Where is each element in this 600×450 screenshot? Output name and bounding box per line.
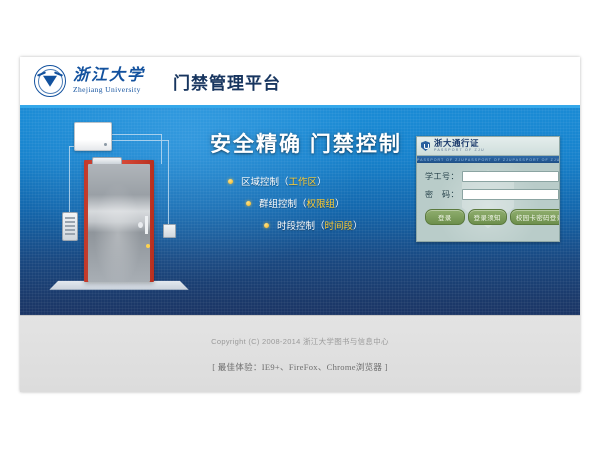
login-notice-button[interactable]: 登录须知	[468, 209, 507, 225]
feature-bullet-list: 区域控制（ 工作区 ） 群组控制（ 权限组 ） 时段控制（ 时间段 ）	[210, 174, 402, 232]
door-knob-icon	[138, 222, 143, 228]
login-title-cn: 浙大通行证	[434, 139, 485, 148]
wire-icon	[110, 134, 162, 136]
feature-bullet-group-control: 群组控制（ 权限组 ）	[246, 196, 402, 210]
wire-icon	[69, 146, 71, 212]
door-panel	[88, 164, 150, 282]
bullet-text: 群组控制（	[259, 196, 307, 210]
floor-plane	[49, 281, 188, 290]
bullet-text: 时段控制（	[277, 218, 325, 232]
login-title-en: PASSPORT OF ZJU	[434, 149, 485, 153]
banner-slogan: 安全精确 门禁控制	[210, 128, 402, 158]
campus-card-login-button[interactable]: 校园卡密码登录	[510, 209, 560, 225]
logo-name-en: Zhejiang University	[73, 86, 145, 94]
door-frame	[84, 160, 154, 282]
bullet-highlight: 工作区	[289, 174, 318, 188]
wire-icon	[110, 140, 169, 142]
copyright-text: Copyright (C) 2008-2014 浙江大学图书与信息中心	[211, 336, 389, 347]
login-strip-banner: PASSPORT OF ZJU PASSPORT OF ZJU PASSPORT…	[417, 156, 559, 163]
bullet-dot-icon	[228, 179, 233, 184]
banner-slogan-block: 安全精确 门禁控制 区域控制（ 工作区 ） 群组控制（ 权限组 ） 时段控制（	[210, 128, 402, 240]
field-row-password: 密 码：	[425, 189, 551, 200]
feature-bullet-area-control: 区域控制（ 工作区 ）	[228, 174, 402, 188]
bullet-text: 区域控制（	[241, 174, 289, 188]
login-panel: 浙大通行证 PASSPORT OF ZJU PASSPORT OF ZJU PA…	[416, 136, 560, 242]
student-staff-id-input[interactable]	[462, 171, 559, 182]
site-footer: Copyright (C) 2008-2014 浙江大学图书与信息中心 [ 最佳…	[20, 315, 580, 392]
controller-box-icon	[74, 122, 112, 151]
logo-text: 浙江大学 Zhejiang University	[73, 68, 145, 94]
feature-bullet-time-control: 时段控制（ 时间段 ）	[264, 218, 402, 232]
login-panel-header: 浙大通行证 PASSPORT OF ZJU	[417, 137, 559, 156]
status-led-icon	[146, 244, 150, 248]
strip-text: PASSPORT OF ZJU	[513, 158, 560, 162]
login-button[interactable]: 登录	[425, 209, 465, 225]
site-header: 浙江大学 Zhejiang University 门禁管理平台	[20, 57, 580, 105]
strip-text: PASSPORT OF ZJU	[465, 158, 513, 162]
card-reader-icon	[163, 224, 176, 238]
password-label: 密 码：	[425, 189, 459, 200]
bullet-dot-icon	[246, 201, 251, 206]
shield-icon	[421, 141, 430, 151]
field-row-id: 学工号：	[425, 171, 551, 182]
page-title: 门禁管理平台	[173, 69, 281, 94]
browser-support-text: [ 最佳体验：IE9+、FireFox、Chrome浏览器 ]	[212, 361, 388, 373]
logo-name-cn: 浙江大学	[73, 68, 145, 84]
door-access-control-illustration	[42, 116, 192, 306]
wire-icon	[168, 140, 170, 225]
page-container: 浙江大学 Zhejiang University 门禁管理平台	[20, 57, 580, 392]
bullet-text-end: ）	[353, 218, 363, 232]
wire-icon	[161, 134, 163, 164]
zju-logo[interactable]: 浙江大学 Zhejiang University	[34, 65, 145, 97]
bullet-text-end: ）	[335, 196, 345, 210]
login-form: 学工号： 密 码： 登录 登录须知 校园卡密码登录	[417, 163, 559, 242]
login-button-row: 登录 登录须知 校园卡密码登录	[425, 209, 551, 225]
bullet-text-end: ）	[317, 174, 327, 188]
zju-seal-icon	[34, 65, 66, 97]
hero-banner: 安全精确 门禁控制 区域控制（ 工作区 ） 群组控制（ 权限组 ） 时段控制（	[20, 105, 580, 315]
student-staff-id-label: 学工号：	[425, 171, 459, 182]
password-input[interactable]	[462, 189, 559, 200]
keypad-reader-icon	[62, 212, 78, 241]
bullet-dot-icon	[264, 223, 269, 228]
strip-text: PASSPORT OF ZJU	[417, 158, 465, 162]
bullet-highlight: 时间段	[325, 218, 354, 232]
door-plate	[145, 216, 148, 234]
bullet-highlight: 权限组	[307, 196, 336, 210]
